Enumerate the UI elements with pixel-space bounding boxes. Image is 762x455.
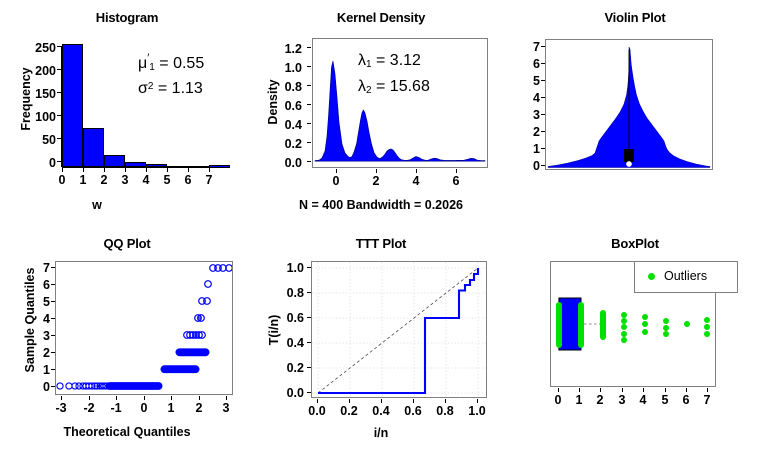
qq-xtick-1: 1 bbox=[159, 401, 183, 415]
kernel-density-title: Kernel Density bbox=[254, 10, 508, 25]
kd-annotation-lambda1: λ1 = 3.12 bbox=[358, 52, 421, 70]
ttt-ytick-0-8: 0.8 bbox=[264, 286, 304, 300]
boxplot-xtick-mark-6 bbox=[686, 388, 687, 392]
violin-shape bbox=[546, 40, 712, 169]
kd-lambda2-value: = 15.68 bbox=[376, 78, 430, 95]
panel-ttt: TTT Plot T(i/n) 1.0 0.8 0.6 0.4 0.2 0.0 bbox=[254, 228, 508, 455]
ttt-xtick-1-0: 1.0 bbox=[462, 404, 492, 418]
qq-xtick-mark-3 bbox=[226, 396, 227, 400]
boxplot-title: BoxPlot bbox=[508, 236, 762, 251]
qq-ytick-1: 1 bbox=[28, 363, 50, 377]
qq-xtick-mark-0 bbox=[144, 396, 145, 400]
boxplot-xtick-4: 4 bbox=[633, 393, 653, 407]
kd-ytick-mark-1 bbox=[307, 142, 311, 143]
ttt-ytick-0-0: 0.0 bbox=[264, 386, 304, 400]
histogram-bar-7 bbox=[209, 165, 230, 168]
figure-panel-grid: Histogram Frequency 250 200 150 100 50 0 bbox=[0, 0, 762, 455]
kd-ytick-mark-2 bbox=[307, 123, 311, 124]
lambda1-subscript: 1 bbox=[366, 59, 372, 70]
qq-frame bbox=[55, 261, 233, 395]
kd-ytick-mark-5 bbox=[307, 66, 311, 67]
boxplot-xtick-mark-5 bbox=[665, 388, 666, 392]
ttt-xtick-0-2: 0.2 bbox=[334, 404, 364, 418]
ttt-ytick-0-6: 0.6 bbox=[264, 311, 304, 325]
sigma-symbol: σ bbox=[138, 80, 148, 97]
boxplot-xtick-mark-4 bbox=[643, 388, 644, 392]
lambda2-subscript: 2 bbox=[366, 85, 372, 96]
histogram-title: Histogram bbox=[0, 10, 254, 25]
histogram-xtick-5: 5 bbox=[157, 173, 177, 187]
mu-subscript: 1 bbox=[149, 62, 155, 73]
ttt-xtick-mark-0-2 bbox=[349, 399, 350, 403]
qq-xtick-2: 2 bbox=[187, 401, 211, 415]
lambda-symbol-2: λ bbox=[358, 78, 366, 95]
qq-ytick-7: 7 bbox=[28, 261, 50, 275]
ttt-xtick-mark-1-0 bbox=[477, 399, 478, 403]
histogram-ytick-mark-200 bbox=[57, 69, 61, 70]
mu-symbol: μ bbox=[138, 55, 147, 72]
lambda-symbol-1: λ bbox=[358, 52, 366, 69]
histogram-annotation-variance: σ2 = 1.13 bbox=[138, 80, 203, 98]
violin-frame bbox=[545, 39, 713, 170]
ttt-xlabel: i/n bbox=[254, 426, 508, 440]
histogram-xtick-mark-7 bbox=[209, 168, 210, 172]
histogram-ytick-0: 0 bbox=[22, 156, 56, 170]
histogram-ytick-mark-50 bbox=[57, 138, 61, 139]
qq-xtick--1: -1 bbox=[104, 401, 128, 415]
boxplot-xtick-mark-2 bbox=[600, 388, 601, 392]
qq-xtick--2: -2 bbox=[77, 401, 101, 415]
violin-ytick-5: 5 bbox=[516, 74, 540, 88]
histogram-xtick-mark-4 bbox=[146, 168, 147, 172]
histogram-ytick-mark-150 bbox=[57, 92, 61, 93]
kd-ytick-1-0: 1.0 bbox=[262, 61, 302, 75]
qq-ytick-0: 0 bbox=[28, 380, 50, 394]
panel-violin: Violin Plot 7 6 5 4 3 2 1 0 bbox=[508, 0, 762, 228]
ttt-gridlines bbox=[312, 262, 486, 397]
kd-xtick-mark-4 bbox=[416, 169, 417, 173]
qq-xtick-mark-2 bbox=[199, 396, 200, 400]
boxplot-xtick-mark-0 bbox=[558, 388, 559, 392]
outlier-legend-dot-icon bbox=[648, 273, 655, 280]
kd-xtick-0: 0 bbox=[326, 174, 346, 188]
sigma-exponent: 2 bbox=[148, 81, 154, 92]
kd-ytick-0-6: 0.6 bbox=[262, 99, 302, 113]
qq-xtick-3: 3 bbox=[214, 401, 238, 415]
qq-ytick-3: 3 bbox=[28, 329, 50, 343]
boxplot-box bbox=[559, 298, 581, 350]
boxplot-legend-label: Outliers bbox=[664, 269, 707, 283]
ttt-frame bbox=[311, 261, 487, 398]
panel-kernel-density: Kernel Density Density 1.2 1.0 0.8 0.6 0… bbox=[254, 0, 508, 228]
histogram-ytick-100: 100 bbox=[22, 110, 56, 124]
ttt-ylabel: T(i/n) bbox=[267, 290, 281, 370]
boxplot-xtick-3: 3 bbox=[612, 393, 632, 407]
violin-ytick-7: 7 bbox=[516, 40, 540, 54]
histogram-xtick-3: 3 bbox=[115, 173, 135, 187]
histogram-ytick-mark-0 bbox=[57, 161, 61, 162]
ttt-title: TTT Plot bbox=[254, 236, 508, 251]
histogram-xtick-mark-0 bbox=[62, 168, 63, 172]
kd-ytick-0-4: 0.4 bbox=[262, 118, 302, 132]
qq-xtick-mark--1 bbox=[116, 396, 117, 400]
kd-ytick-mark-3 bbox=[307, 104, 311, 105]
kd-ytick-0-0: 0.0 bbox=[262, 156, 302, 170]
boxplot-xtick-5: 5 bbox=[655, 393, 675, 407]
histogram-mean-value: = 0.55 bbox=[159, 55, 204, 72]
histogram-xtick-7: 7 bbox=[199, 173, 219, 187]
violin-title: Violin Plot bbox=[508, 10, 762, 25]
violin-median-dot bbox=[626, 161, 631, 166]
kd-xtick-mark-0 bbox=[336, 169, 337, 173]
qq-points bbox=[56, 262, 232, 394]
histogram-bar-1 bbox=[83, 128, 104, 167]
ttt-curve bbox=[312, 262, 486, 397]
histogram-ytick-200: 200 bbox=[22, 64, 56, 78]
histogram-xlabel: w bbox=[0, 198, 224, 212]
histogram-xtick-mark-3 bbox=[125, 168, 126, 172]
qq-xtick--3: -3 bbox=[49, 401, 73, 415]
histogram-ytick-250: 250 bbox=[22, 41, 56, 55]
kd-ytick-0-2: 0.2 bbox=[262, 137, 302, 151]
histogram-bar-5 bbox=[167, 166, 188, 168]
boxplot-xtick-0: 0 bbox=[548, 393, 568, 407]
kd-ytick-1-2: 1.2 bbox=[262, 42, 302, 56]
boxplot-xtick-mark-7 bbox=[707, 388, 708, 392]
histogram-xtick-0: 0 bbox=[52, 173, 72, 187]
qq-ytick-2: 2 bbox=[28, 346, 50, 360]
kd-annotation-lambda2: λ2 = 15.68 bbox=[358, 78, 430, 96]
histogram-variance-value: = 1.13 bbox=[158, 80, 203, 97]
histogram-xtick-mark-6 bbox=[188, 168, 189, 172]
qq-title: QQ Plot bbox=[0, 236, 254, 251]
histogram-xtick-mark-1 bbox=[83, 168, 84, 172]
kd-xtick-4: 4 bbox=[406, 174, 426, 188]
ttt-xtick-0-8: 0.8 bbox=[430, 404, 460, 418]
violin-ytick-2: 2 bbox=[516, 125, 540, 139]
ttt-xtick-0-6: 0.6 bbox=[398, 404, 428, 418]
histogram-ytick-150: 150 bbox=[22, 87, 56, 101]
qq-ytick-5: 5 bbox=[28, 295, 50, 309]
histogram-bar-3 bbox=[125, 162, 146, 167]
ttt-ytick-0-4: 0.4 bbox=[264, 336, 304, 350]
ttt-xtick-mark-0-6 bbox=[413, 399, 414, 403]
boxplot-xtick-1: 1 bbox=[569, 393, 589, 407]
kd-ytick-mark-0 bbox=[307, 161, 311, 162]
ttt-ytick-0-2: 0.2 bbox=[264, 361, 304, 375]
kernel-density-caption: N = 400 Bandwidth = 0.2026 bbox=[254, 198, 508, 212]
histogram-bar-4 bbox=[146, 164, 167, 167]
qq-ytick-4: 4 bbox=[28, 312, 50, 326]
histogram-xtick-4: 4 bbox=[136, 173, 156, 187]
histogram-xtick-mark-2 bbox=[104, 168, 105, 172]
histogram-xtick-6: 6 bbox=[178, 173, 198, 187]
violin-iqr-box bbox=[624, 149, 634, 162]
qq-xtick-mark--2 bbox=[89, 396, 90, 400]
boxplot-xtick-7: 7 bbox=[697, 393, 717, 407]
kd-ytick-mark-4 bbox=[307, 85, 311, 86]
histogram-xtick-2: 2 bbox=[94, 173, 114, 187]
histogram-ytick-50: 50 bbox=[22, 133, 56, 147]
kd-xtick-2: 2 bbox=[366, 174, 386, 188]
ttt-xtick-0-0: 0.0 bbox=[302, 404, 332, 418]
panel-boxplot: BoxPlot bbox=[508, 228, 762, 455]
histogram-ytick-mark-100 bbox=[57, 115, 61, 116]
kd-ytick-0-8: 0.8 bbox=[262, 80, 302, 94]
histogram-ytick-mark-250 bbox=[57, 46, 61, 47]
ttt-xtick-mark-0-4 bbox=[381, 399, 382, 403]
panel-qq: QQ Plot Sample Quantiles 7 6 5 4 3 2 1 0 bbox=[0, 228, 254, 455]
qq-xlabel: Theoretical Quantiles bbox=[0, 425, 254, 439]
violin-ytick-6: 6 bbox=[516, 57, 540, 71]
boxplot-xtick-mark-3 bbox=[622, 388, 623, 392]
qq-xtick-0: 0 bbox=[132, 401, 156, 415]
kd-ytick-mark-6 bbox=[307, 47, 311, 48]
qq-xtick-mark--3 bbox=[61, 396, 62, 400]
ttt-reference-line bbox=[318, 268, 478, 393]
boxplot-outliers bbox=[556, 302, 710, 348]
boxplot-xtick-2: 2 bbox=[590, 393, 610, 407]
kd-lambda1-value: = 3.12 bbox=[376, 52, 421, 69]
histogram-annotation-mean: μ′1 = 0.55 bbox=[138, 52, 204, 73]
ttt-xtick-mark-0 bbox=[317, 399, 318, 403]
boxplot-xtick-mark-1 bbox=[579, 388, 580, 392]
histogram-bar-2 bbox=[104, 155, 125, 167]
violin-ytick-0: 0 bbox=[516, 159, 540, 173]
qq-ytick-6: 6 bbox=[28, 278, 50, 292]
kd-xtick-mark-2 bbox=[376, 169, 377, 173]
histogram-xtick-1: 1 bbox=[73, 173, 93, 187]
kd-xtick-mark-6 bbox=[456, 169, 457, 173]
histogram-xtick-mark-5 bbox=[167, 168, 168, 172]
qq-xtick-mark-1 bbox=[171, 396, 172, 400]
ttt-xtick-0-4: 0.4 bbox=[366, 404, 396, 418]
panel-histogram: Histogram Frequency 250 200 150 100 50 0 bbox=[0, 0, 254, 228]
histogram-bar-0 bbox=[62, 44, 83, 167]
histogram-bar-6 bbox=[188, 166, 209, 168]
kd-xtick-6: 6 bbox=[446, 174, 466, 188]
boxplot-xtick-6: 6 bbox=[676, 393, 696, 407]
violin-ytick-1: 1 bbox=[516, 142, 540, 156]
ttt-xtick-mark-0-8 bbox=[445, 399, 446, 403]
violin-ytick-4: 4 bbox=[516, 91, 540, 105]
violin-ytick-3: 3 bbox=[516, 108, 540, 122]
ttt-ytick-1-0: 1.0 bbox=[264, 261, 304, 275]
